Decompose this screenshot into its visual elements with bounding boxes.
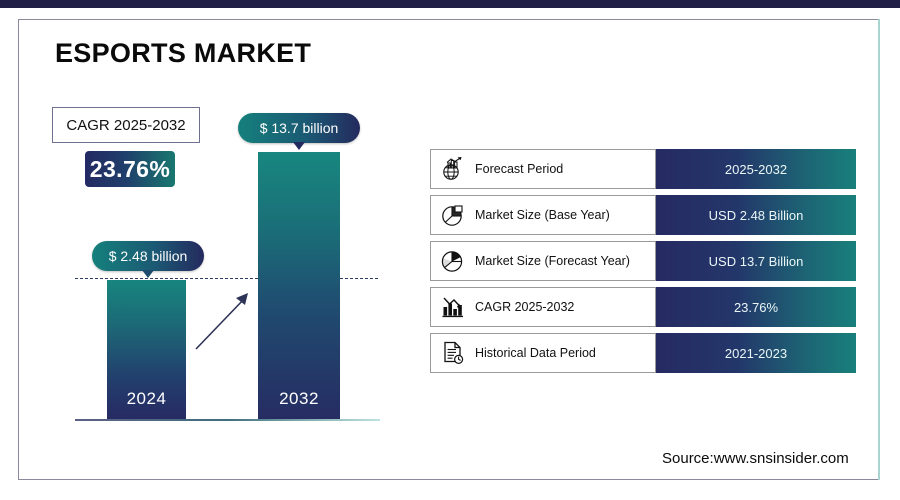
table-row: Historical Data Period 2021-2023 — [430, 333, 856, 373]
document-clock-icon — [440, 340, 466, 366]
table-row-label: CAGR 2025-2032 — [475, 300, 574, 314]
table-row-value-cell: 2025-2032 — [656, 149, 856, 189]
bar-chart: 2024 2032 $ 2.48 billion $ 13.7 billion — [0, 0, 420, 500]
bar-2024-value-text: $ 2.48 billion — [109, 248, 188, 264]
table-row-value-cell: USD 2.48 Billion — [656, 195, 856, 235]
table-row-label-cell: Market Size (Forecast Year) — [430, 241, 656, 281]
table-row-label: Market Size (Base Year) — [475, 208, 610, 222]
table-row-value: 2021-2023 — [725, 346, 787, 361]
growth-arrow-icon — [190, 285, 260, 355]
table-row-value: 2025-2032 — [725, 162, 787, 177]
bar-2032-value-text: $ 13.7 billion — [260, 120, 339, 136]
table-row-value-cell: USD 13.7 Billion — [656, 241, 856, 281]
table-row-label-cell: CAGR 2025-2032 — [430, 287, 656, 327]
table-row: CAGR 2025-2032 23.76% — [430, 287, 856, 327]
table-row: Forecast Period 2025-2032 — [430, 149, 856, 189]
bar-2024-value-pill: $ 2.48 billion — [92, 241, 204, 271]
table-row-value: USD 13.7 Billion — [709, 254, 804, 269]
bar-chart-trend-icon — [440, 294, 466, 320]
table-row-value-cell: 23.76% — [656, 287, 856, 327]
source-attribution: Source:www.snsinsider.com — [662, 450, 849, 467]
bar-2024: 2024 — [107, 280, 186, 420]
summary-table: Forecast Period 2025-2032 Market Size (B… — [430, 149, 856, 379]
table-row-label: Historical Data Period — [475, 346, 596, 360]
table-row-label-cell: Historical Data Period — [430, 333, 656, 373]
table-row-value: USD 2.48 Billion — [709, 208, 804, 223]
bar-2032-value-pill: $ 13.7 billion — [238, 113, 360, 143]
table-row-label-cell: Forecast Period — [430, 149, 656, 189]
table-row-value-cell: 2021-2023 — [656, 333, 856, 373]
frame-right-accent — [878, 19, 880, 480]
bar-2024-category-label: 2024 — [107, 389, 186, 409]
globe-growth-icon — [440, 156, 466, 182]
bar-2032-category-label: 2032 — [258, 389, 340, 409]
chart-axis-line — [75, 419, 380, 421]
table-row: Market Size (Base Year) USD 2.48 Billion — [430, 195, 856, 235]
pie-chart-icon — [440, 202, 466, 228]
pill-pointer-icon — [293, 142, 305, 150]
table-row-label: Forecast Period — [475, 162, 563, 176]
pie-chart-segments-icon — [440, 248, 466, 274]
table-row-value: 23.76% — [734, 300, 778, 315]
bar-2032: 2032 — [258, 152, 340, 420]
table-row: Market Size (Forecast Year) USD 13.7 Bil… — [430, 241, 856, 281]
table-row-label: Market Size (Forecast Year) — [475, 254, 630, 268]
pill-pointer-icon — [142, 270, 154, 278]
table-row-label-cell: Market Size (Base Year) — [430, 195, 656, 235]
infographic-canvas: ESPORTS MARKET CAGR 2025-2032 23.76% 202… — [0, 0, 900, 500]
